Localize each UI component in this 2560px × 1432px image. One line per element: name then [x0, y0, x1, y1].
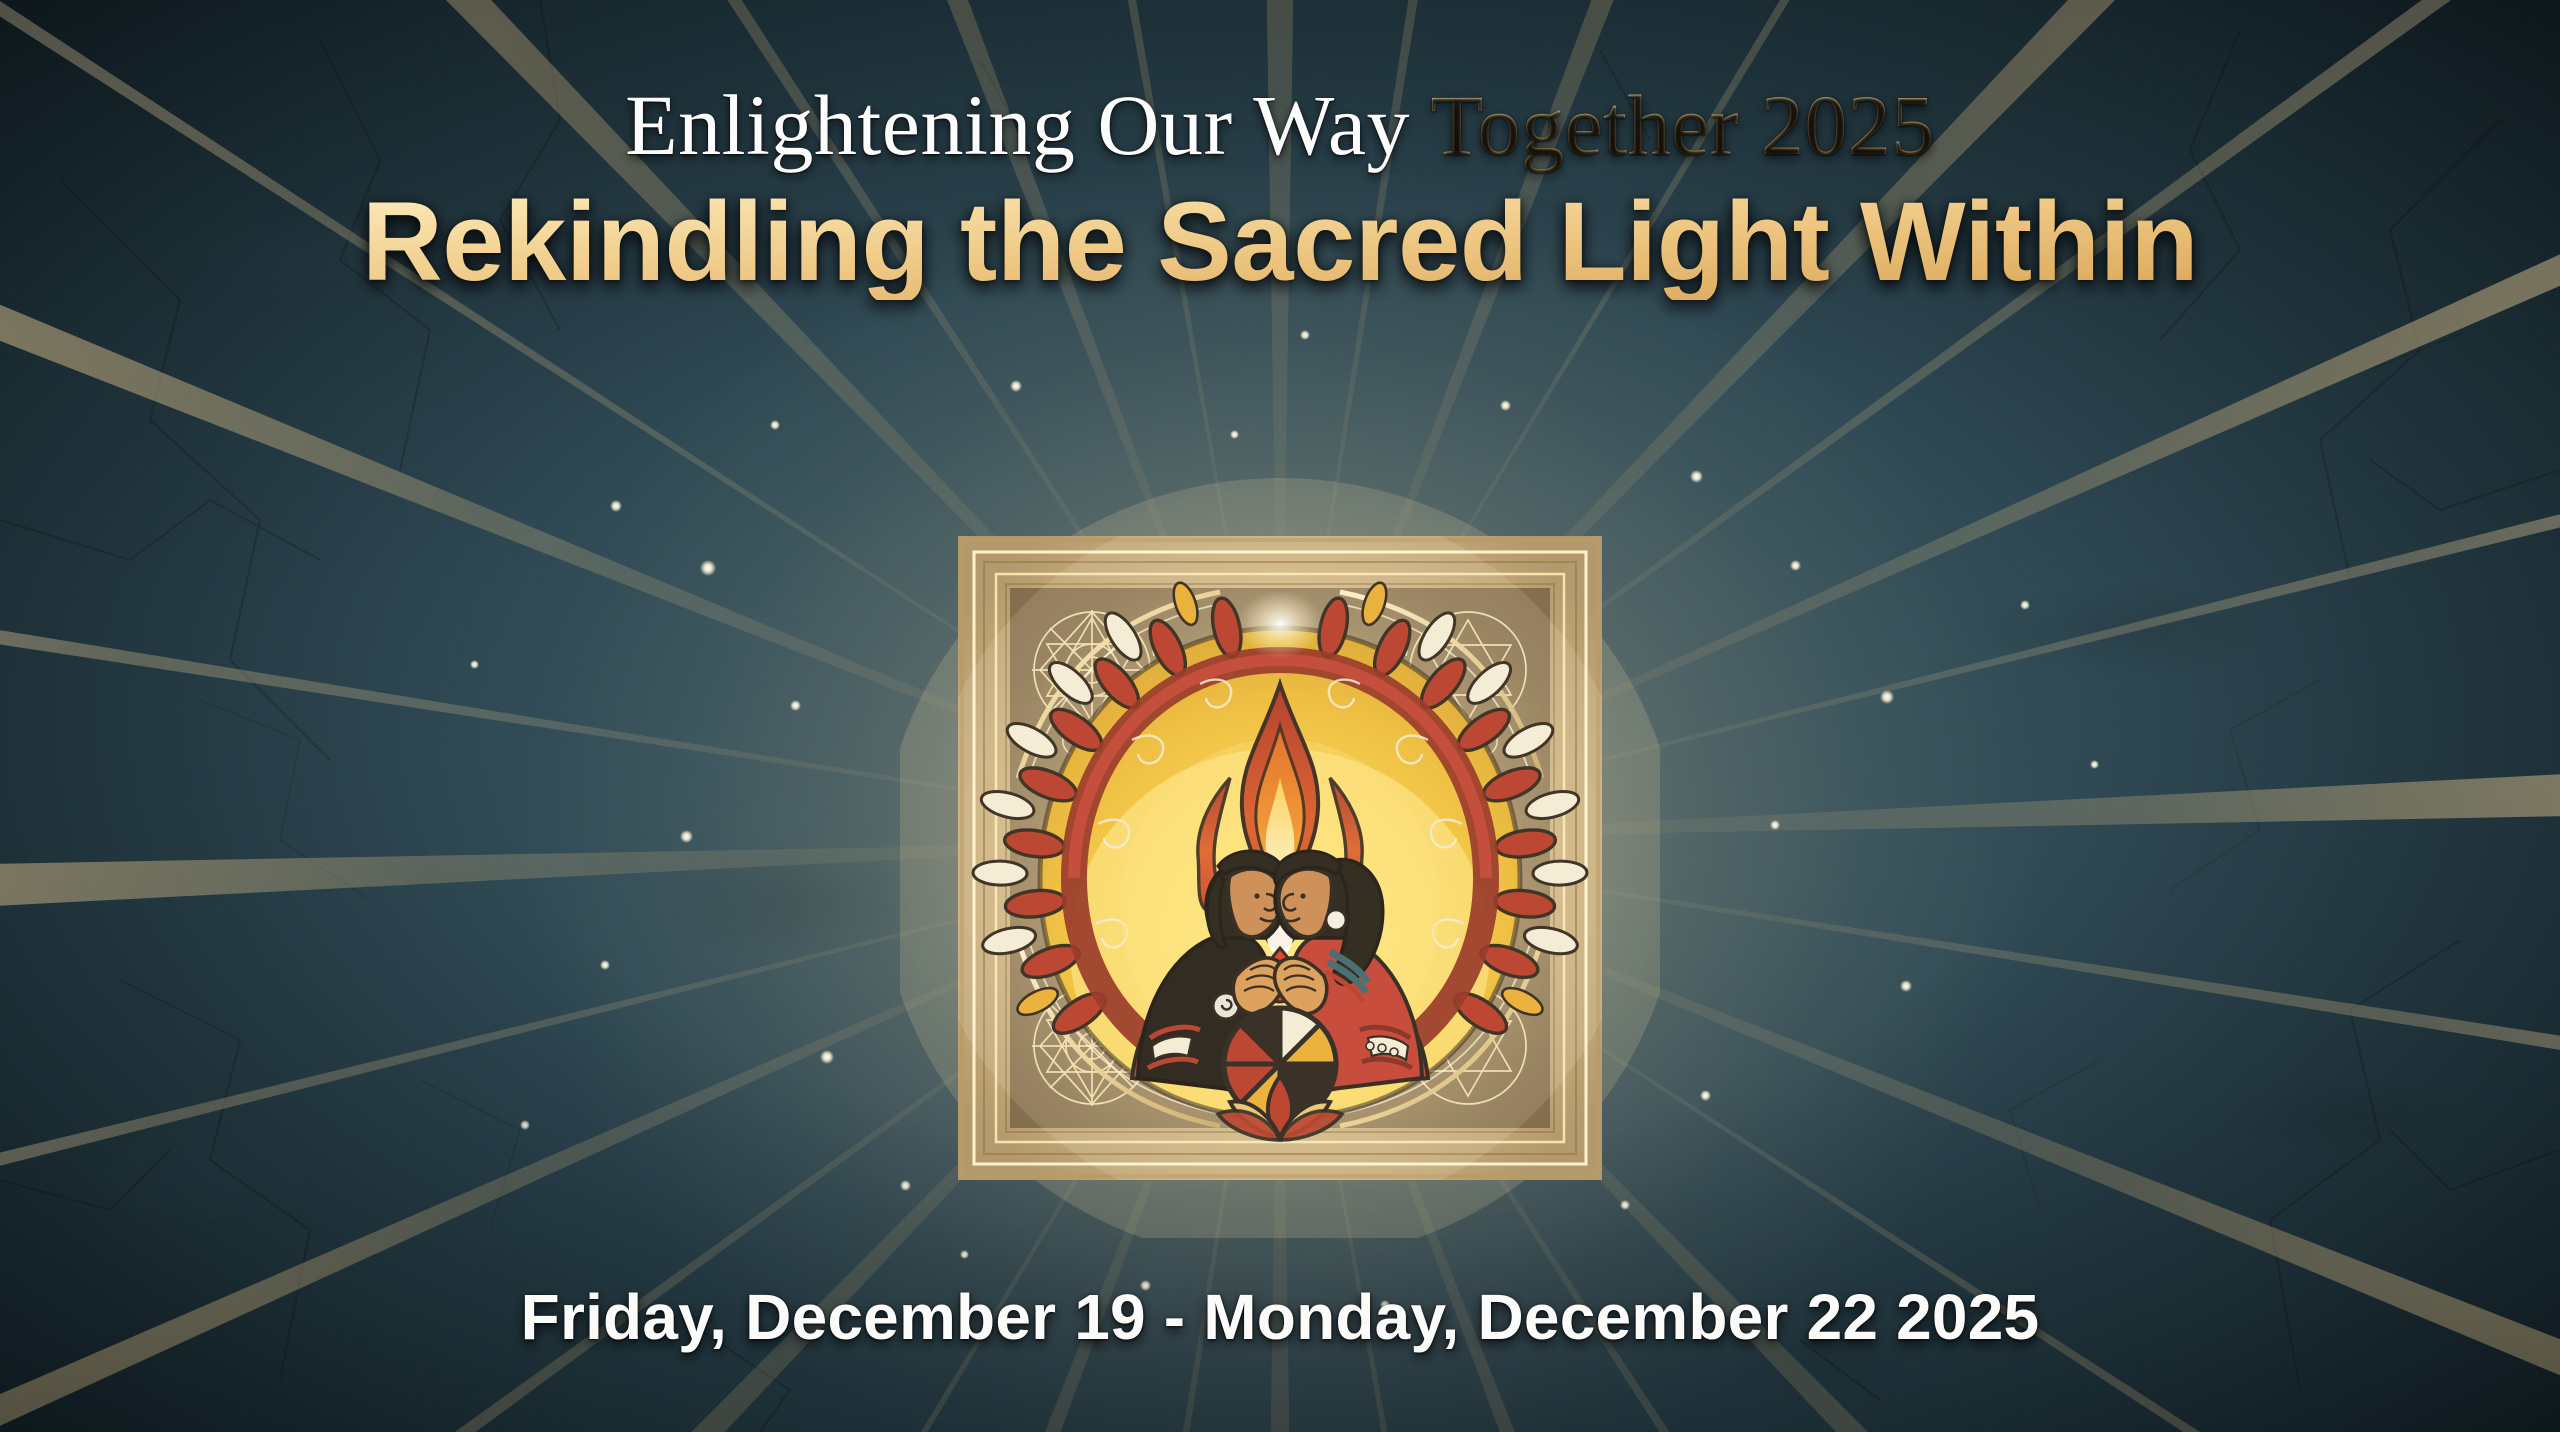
title-line-1: Enlightening Our Way Together 2025: [0, 82, 2560, 170]
plaque-light: [920, 498, 1640, 1218]
title-line-1-gold: Together 2025: [1410, 77, 1935, 173]
event-date: Friday, December 19 - Monday, December 2…: [0, 1280, 2560, 1354]
sacred-fire-emblem: [900, 478, 1660, 1238]
headline-block: Enlightening Our Way Together 2025 Rekin…: [0, 82, 2560, 300]
title-line-2: Rekindling the Sacred Light Within: [0, 184, 2560, 300]
emblem-artwork: [900, 478, 1660, 1238]
title-line-1-white: Enlightening Our Way: [625, 77, 1410, 173]
poster-canvas: Enlightening Our Way Together 2025 Rekin…: [0, 0, 2560, 1432]
